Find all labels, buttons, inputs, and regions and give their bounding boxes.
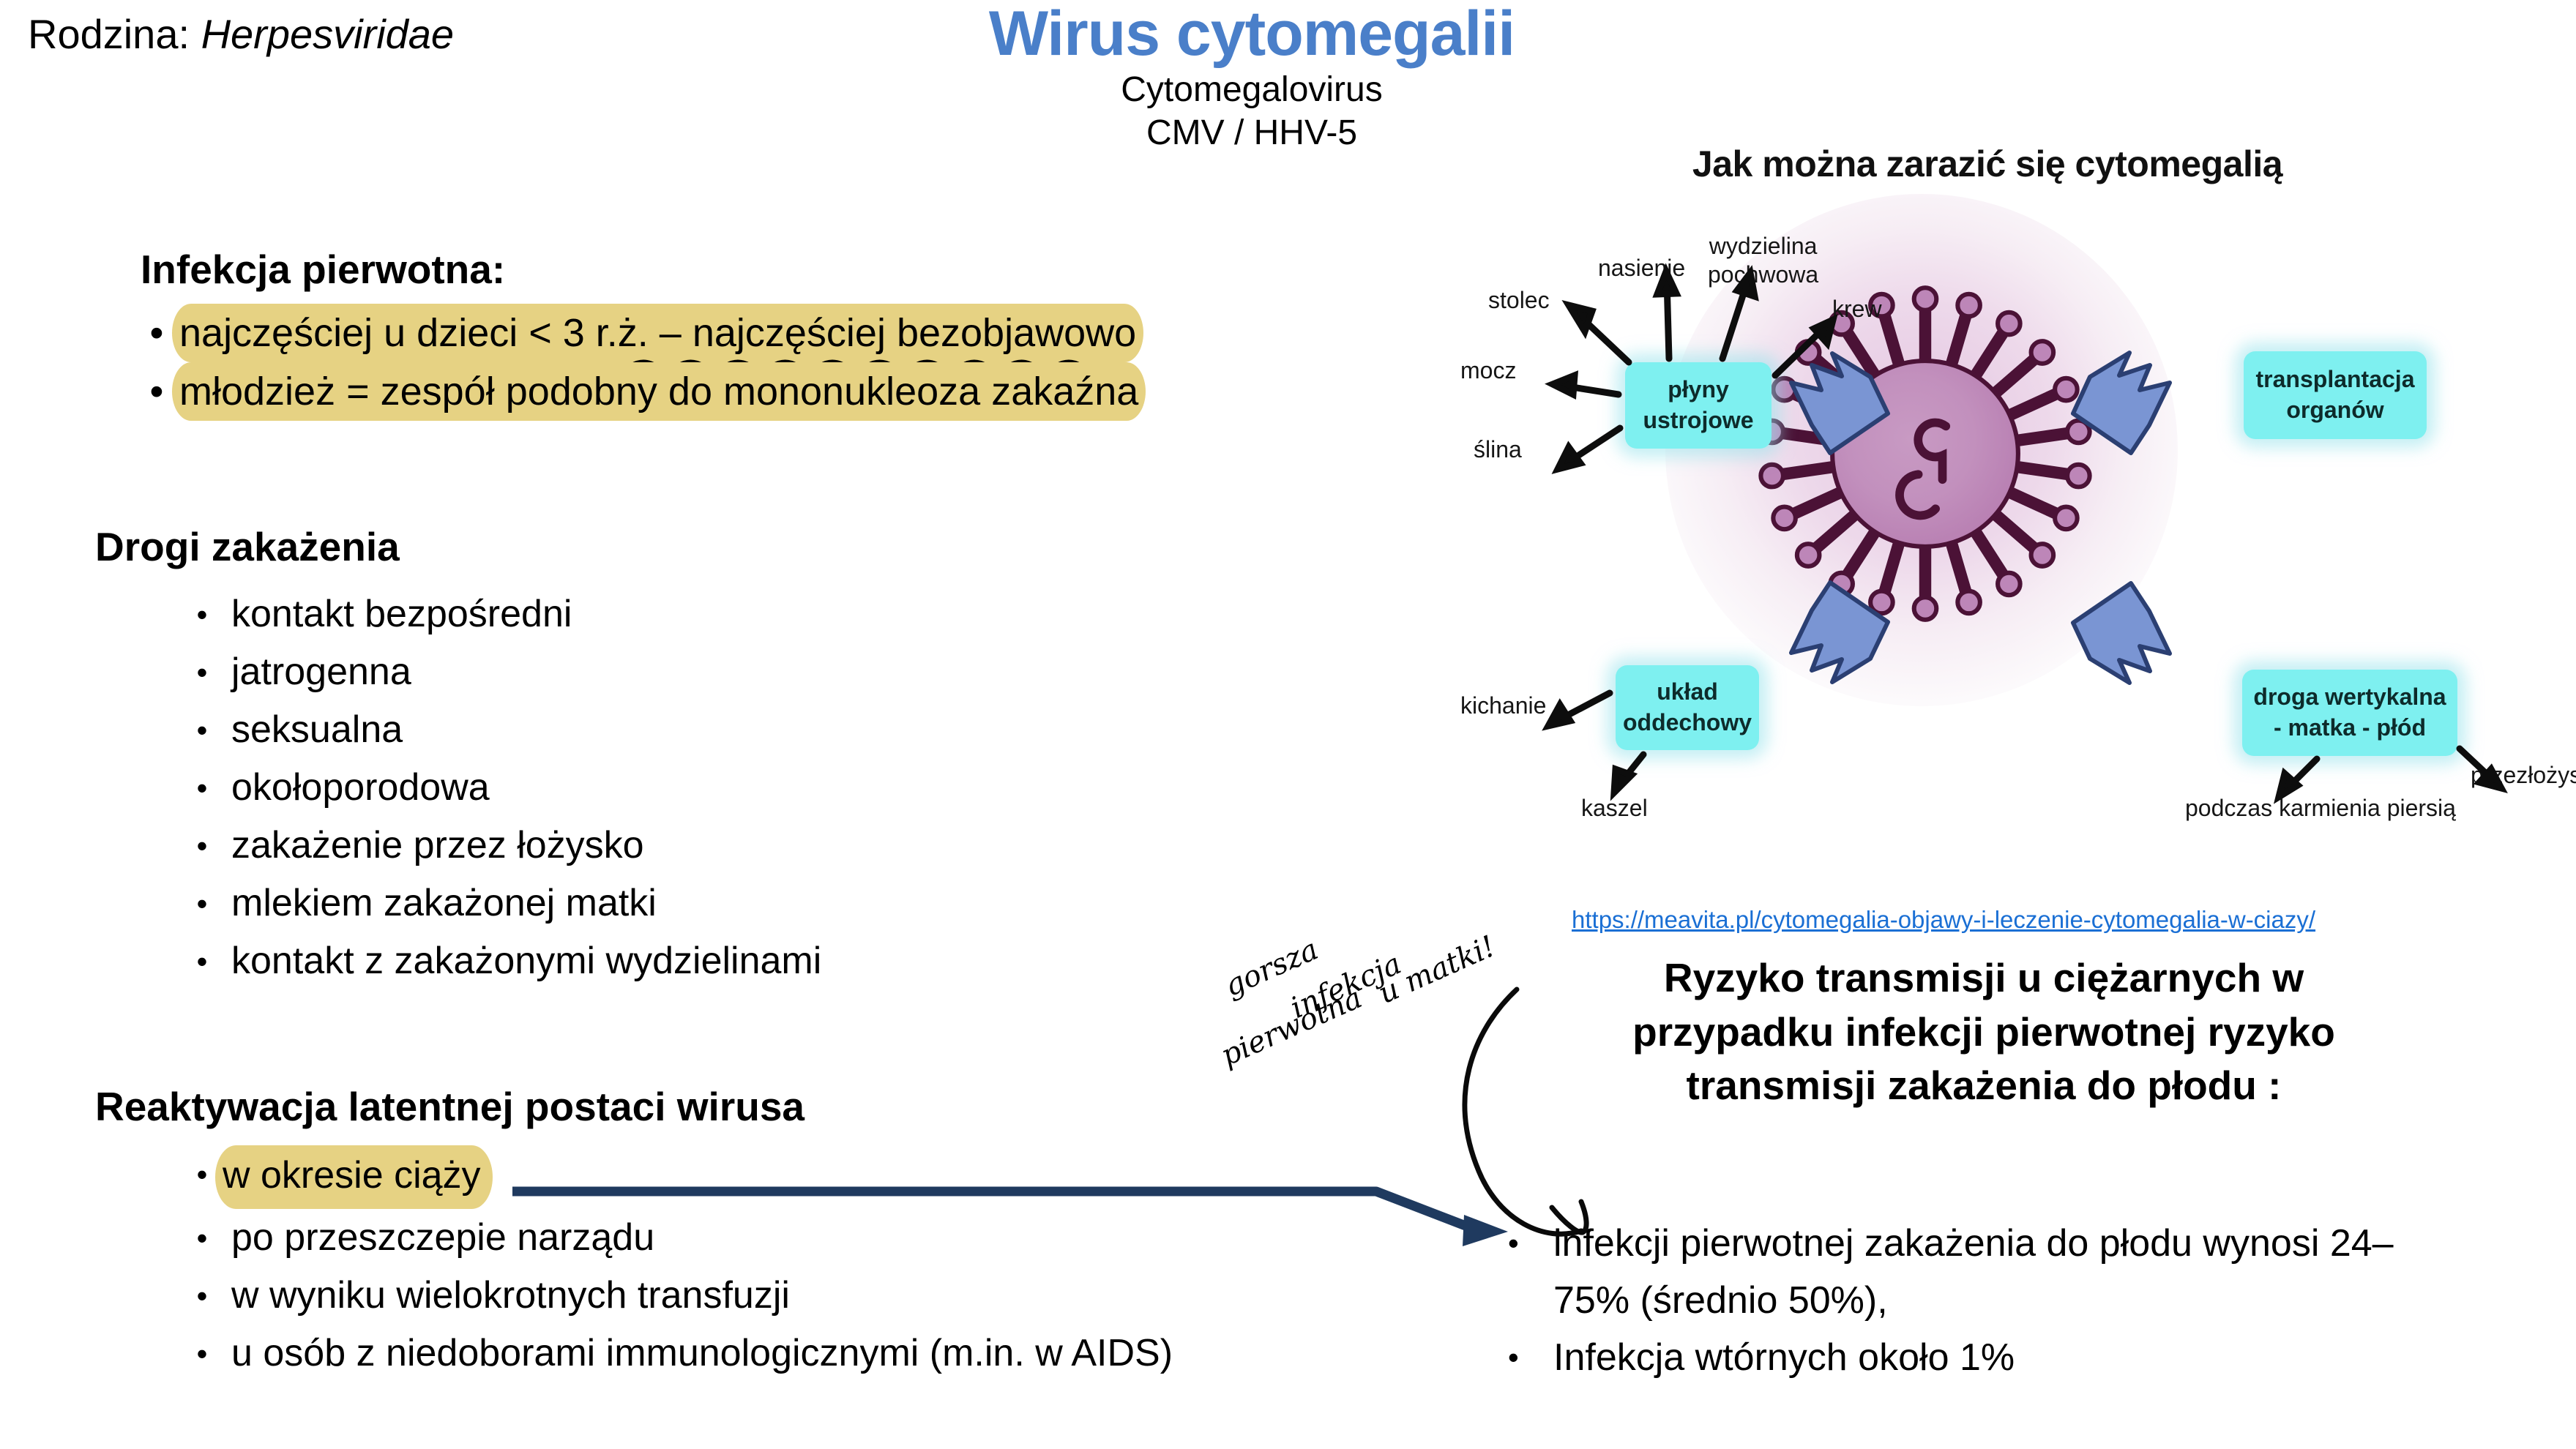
- reactivation-item-3: w wyniku wielokrotnych transfuzji: [221, 1267, 790, 1325]
- route-item-5: zakażenie przez łożysko: [221, 817, 644, 875]
- reactivation-item-1: w okresie ciąży: [215, 1145, 493, 1209]
- blue-block-arrows-icon: [1446, 143, 2529, 882]
- title-block: Wirus cytomegalii Cytomegalovirus CMV / …: [849, 0, 1654, 154]
- bullet-glyph: •: [183, 1209, 221, 1267]
- bullet-glyph: •: [183, 759, 221, 817]
- bullet-glyph: •: [183, 817, 221, 875]
- bullet-glyph: •: [183, 1267, 221, 1325]
- bullet-glyph: •: [183, 1325, 221, 1382]
- item-text: najczęściej u dzieci < 3 r.ż. – najczęśc…: [179, 311, 1136, 355]
- bullet-glyph: •: [183, 701, 221, 759]
- list-item: • seksualna: [183, 701, 821, 759]
- subtitle-latin: Cytomegalovirus: [849, 70, 1654, 111]
- route-item-7: kontakt z zakażonymi wydzielinami: [221, 932, 821, 990]
- list-item: • młodzież = zespół podobny do mononukle…: [135, 362, 1146, 421]
- transmission-diagram: Jak można zarazić się cytomegalią płyny …: [1446, 143, 2529, 882]
- route-item-6: mlekiem zakażonej matki: [221, 875, 657, 932]
- transmission-routes-heading: Drogi zakażenia: [95, 523, 400, 570]
- slide-canvas: Rodzina: Herpesviridae Wirus cytomegalii…: [0, 0, 2576, 1449]
- route-item-2: jatrogenna: [221, 643, 411, 701]
- transmission-routes-list: • kontakt bezpośredni • jatrogenna • sek…: [183, 585, 821, 990]
- family-line: Rodzina: Herpesviridae: [28, 10, 454, 58]
- route-item-3: seksualna: [221, 701, 403, 759]
- primary-infection-item-1: najczęściej u dzieci < 3 r.ż. – najczęśc…: [172, 304, 1143, 362]
- family-name: Herpesviridae: [201, 11, 455, 57]
- list-item: • kontakt z zakażonymi wydzielinami: [183, 932, 821, 990]
- bullet-glyph: •: [1508, 1329, 1553, 1386]
- primary-infection-list: • najczęściej u dzieci < 3 r.ż. – najczę…: [135, 304, 1146, 421]
- route-item-4: okołoporodowa: [221, 759, 490, 817]
- handdrawn-curved-arrow-icon: [1435, 988, 1669, 1266]
- page-title: Wirus cytomegalii: [849, 0, 1654, 68]
- list-item: • najczęściej u dzieci < 3 r.ż. – najczę…: [135, 304, 1146, 362]
- risk-item-2: Infekcja wtórnych około 1%: [1553, 1329, 2015, 1386]
- family-label: Rodzina:: [28, 11, 201, 57]
- source-link[interactable]: https://meavita.pl/cytomegalia-objawy-i-…: [1572, 906, 2315, 934]
- bullet-glyph: •: [183, 585, 221, 643]
- list-item: • mlekiem zakażonej matki: [183, 875, 821, 932]
- list-item: • kontakt bezpośredni: [183, 585, 821, 643]
- reactivation-item-4: u osób z niedoborami immunologicznymi (m…: [221, 1325, 1173, 1382]
- list-item: • zakażenie przez łożysko: [183, 817, 821, 875]
- list-item: • Infekcja wtórnych około 1%: [1508, 1329, 2496, 1386]
- bullet-glyph: •: [183, 875, 221, 932]
- route-item-1: kontakt bezpośredni: [221, 585, 572, 643]
- reactivation-heading: Reaktywacja latentnej postaci wirusa: [95, 1083, 804, 1130]
- bullet-glyph: •: [183, 932, 221, 990]
- risk-item-1: infekcji pierwotnej zakażenia do płodu w…: [1553, 1215, 2417, 1329]
- primary-infection-item-2: młodzież = zespół podobny do mononukleoz…: [172, 362, 1146, 421]
- bullet-glyph: •: [183, 643, 221, 701]
- list-item: • u osób z niedoborami immunologicznymi …: [183, 1325, 1173, 1382]
- list-item: • okołoporodowa: [183, 759, 821, 817]
- list-item: • w wyniku wielokrotnych transfuzji: [183, 1267, 1173, 1325]
- primary-infection-heading: Infekcja pierwotna:: [141, 246, 505, 293]
- list-item: • jatrogenna: [183, 643, 821, 701]
